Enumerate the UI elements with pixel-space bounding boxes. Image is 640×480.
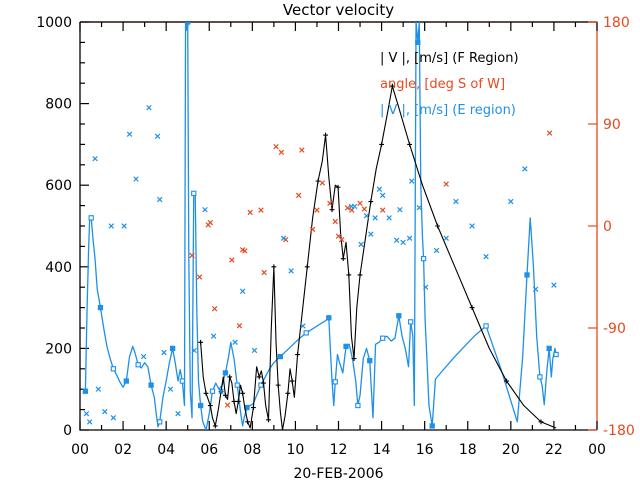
data-marker-x xyxy=(211,334,216,339)
data-marker-x xyxy=(358,201,363,206)
data-marker-plus xyxy=(280,428,285,433)
data-marker-plus xyxy=(341,256,346,261)
data-marker-square xyxy=(368,359,372,363)
x-tick-label: 20 xyxy=(502,442,520,458)
data-marker-x xyxy=(230,258,235,263)
data-marker-x xyxy=(84,411,89,416)
data-marker-square xyxy=(421,257,425,261)
data-marker-x xyxy=(109,224,114,229)
data-marker-x xyxy=(134,177,139,182)
data-marker-x xyxy=(155,134,160,139)
data-marker-x xyxy=(320,181,325,186)
data-marker-plus xyxy=(379,142,384,147)
data-marker-square xyxy=(397,314,401,318)
y2-tick-label: 90 xyxy=(603,117,621,133)
data-marker-plus xyxy=(204,391,209,396)
data-marker-x xyxy=(111,415,116,420)
data-marker-square xyxy=(554,352,558,356)
y2-tick-label: -180 xyxy=(603,423,635,439)
data-marker-x xyxy=(87,420,92,425)
data-marker-x xyxy=(509,199,514,204)
data-marker-square xyxy=(327,316,331,320)
data-marker-plus xyxy=(470,305,475,310)
data-marker-x xyxy=(387,216,392,221)
data-marker-x xyxy=(380,208,385,213)
data-marker-square xyxy=(158,420,162,424)
data-marker-square xyxy=(525,273,529,277)
data-marker-x xyxy=(252,348,257,353)
data-marker-square xyxy=(124,379,128,383)
data-marker-x xyxy=(279,150,284,155)
data-marker-x xyxy=(248,210,253,215)
x-tick-label: 14 xyxy=(373,442,391,458)
y-tick-label: 600 xyxy=(45,178,72,194)
data-marker-square xyxy=(83,389,87,393)
series-f-region-line xyxy=(198,84,556,433)
y2-tick-label: 180 xyxy=(603,15,630,31)
data-marker-plus xyxy=(323,133,328,138)
legend-item-0: | V |, [m/s] (F Region) xyxy=(380,51,519,66)
legend-item-2: | V |, [m/s] (E region) xyxy=(380,103,516,118)
vector-velocity-chart: 0002040608101214161820220020-FEB-2006020… xyxy=(0,0,640,480)
data-marker-square xyxy=(278,354,282,358)
chart-canvas: 0002040608101214161820220020-FEB-2006020… xyxy=(0,0,640,480)
data-marker-square xyxy=(235,383,239,387)
data-marker-x xyxy=(127,132,132,137)
data-marker-x xyxy=(237,323,242,328)
y2-tick-label: -90 xyxy=(603,321,626,337)
data-marker-square xyxy=(356,403,360,407)
y-tick-label: 0 xyxy=(63,423,72,439)
data-marker-square xyxy=(136,363,140,367)
data-marker-x xyxy=(377,187,382,192)
data-marker-x xyxy=(168,387,173,392)
data-marker-plus xyxy=(213,424,218,429)
data-marker-square xyxy=(210,389,214,393)
data-marker-x xyxy=(203,207,208,212)
data-marker-x xyxy=(444,182,449,187)
data-marker-x xyxy=(259,208,264,213)
series-polyline xyxy=(201,86,556,430)
data-marker-plus xyxy=(240,391,245,396)
data-marker-square xyxy=(89,216,93,220)
data-marker-x xyxy=(523,167,528,172)
scatter-angle xyxy=(190,131,552,408)
x-tick-label: 10 xyxy=(287,442,305,458)
data-marker-plus xyxy=(285,391,290,396)
data-marker-x xyxy=(373,216,378,221)
data-marker-square xyxy=(409,320,413,324)
data-marker-x xyxy=(352,204,357,209)
data-marker-plus xyxy=(276,383,281,388)
data-marker-x xyxy=(157,197,162,202)
plot-frame-left-bottom xyxy=(80,22,597,430)
data-marker-square xyxy=(416,40,420,44)
data-marker-square xyxy=(186,20,190,24)
y2-tick-label: 0 xyxy=(603,219,612,235)
data-marker-plus xyxy=(257,375,262,380)
x-tick-label: 00 xyxy=(588,442,606,458)
data-marker-plus xyxy=(435,224,440,229)
data-marker-square xyxy=(192,191,196,195)
x-tick-label: 16 xyxy=(416,442,434,458)
data-marker-x xyxy=(296,193,301,198)
data-marker-x xyxy=(96,387,101,392)
data-marker-x xyxy=(454,199,459,204)
data-marker-x xyxy=(444,236,449,241)
data-marker-x xyxy=(470,224,475,229)
data-marker-plus xyxy=(346,273,351,278)
x-tick-label: 02 xyxy=(114,442,132,458)
scatter-e-region xyxy=(84,105,556,424)
data-marker-plus xyxy=(295,352,300,357)
x-tick-label: 18 xyxy=(459,442,477,458)
data-marker-x xyxy=(401,240,406,245)
data-marker-plus xyxy=(208,403,213,408)
data-marker-x xyxy=(333,219,338,224)
data-marker-x xyxy=(122,224,127,229)
data-marker-x xyxy=(398,207,403,212)
data-marker-plus xyxy=(251,405,256,410)
data-marker-x xyxy=(359,242,364,247)
data-marker-plus xyxy=(407,142,412,147)
data-marker-x xyxy=(176,411,181,416)
data-marker-x xyxy=(394,238,399,243)
data-marker-x xyxy=(212,306,217,311)
data-marker-square xyxy=(171,346,175,350)
data-marker-x xyxy=(364,214,369,219)
data-marker-x xyxy=(262,270,267,275)
data-marker-x xyxy=(233,340,238,345)
data-marker-x xyxy=(315,208,320,213)
data-marker-square xyxy=(304,331,308,335)
data-marker-x xyxy=(552,283,557,288)
data-marker-x xyxy=(274,144,279,149)
x-axis-label: 20-FEB-2006 xyxy=(293,466,383,480)
data-marker-x xyxy=(240,289,245,294)
data-marker-square xyxy=(149,383,153,387)
data-marker-square xyxy=(538,375,542,379)
data-marker-x xyxy=(300,148,305,153)
data-marker-plus xyxy=(271,264,276,269)
data-marker-plus xyxy=(358,273,363,278)
data-marker-square xyxy=(344,344,348,348)
data-marker-square xyxy=(547,346,551,350)
data-marker-x xyxy=(407,236,412,241)
data-marker-plus xyxy=(198,340,203,345)
data-marker-plus xyxy=(232,399,237,404)
data-marker-square xyxy=(484,324,488,328)
data-marker-square xyxy=(333,380,337,384)
data-marker-x xyxy=(369,232,374,237)
legend-item-1: angle, [deg S of W] xyxy=(380,77,505,92)
data-marker-x xyxy=(162,350,167,355)
y-tick-label: 800 xyxy=(45,97,72,113)
data-marker-x xyxy=(208,220,213,225)
data-marker-plus xyxy=(368,199,373,204)
data-marker-x xyxy=(301,324,306,329)
x-tick-label: 06 xyxy=(200,442,218,458)
data-marker-square xyxy=(223,371,227,375)
x-tick-label: 00 xyxy=(71,442,89,458)
data-marker-x xyxy=(225,403,230,408)
data-marker-square xyxy=(259,383,263,387)
data-marker-x xyxy=(380,193,385,198)
data-marker-x xyxy=(197,275,202,280)
chart-title: Vector velocity xyxy=(283,1,394,19)
data-marker-x xyxy=(147,105,152,110)
data-marker-plus xyxy=(290,379,295,384)
data-marker-x xyxy=(362,207,367,212)
data-marker-x xyxy=(93,156,98,161)
data-marker-square xyxy=(381,336,385,340)
data-marker-x xyxy=(102,409,107,414)
x-tick-label: 12 xyxy=(330,442,348,458)
data-marker-square xyxy=(180,379,184,383)
data-marker-x xyxy=(484,254,489,259)
x-tick-label: 22 xyxy=(545,442,563,458)
x-tick-label: 08 xyxy=(243,442,261,458)
data-marker-x xyxy=(547,131,552,136)
y-tick-label: 400 xyxy=(45,260,72,276)
data-marker-square xyxy=(98,306,102,310)
y-tick-label: 200 xyxy=(45,341,72,357)
data-marker-plus xyxy=(223,393,228,398)
data-marker-x xyxy=(409,179,414,184)
data-marker-plus xyxy=(245,419,250,424)
data-marker-plus xyxy=(305,264,310,269)
data-marker-plus xyxy=(330,207,335,212)
x-tick-label: 04 xyxy=(157,442,175,458)
data-marker-square xyxy=(430,424,434,428)
data-marker-x xyxy=(434,248,439,253)
y-tick-label: 1000 xyxy=(36,15,72,31)
data-marker-square xyxy=(199,403,203,407)
data-marker-plus xyxy=(266,417,271,422)
data-marker-x xyxy=(289,269,294,274)
data-marker-x xyxy=(141,354,146,359)
data-marker-square xyxy=(111,367,115,371)
plot-frame-right-top xyxy=(80,22,597,430)
